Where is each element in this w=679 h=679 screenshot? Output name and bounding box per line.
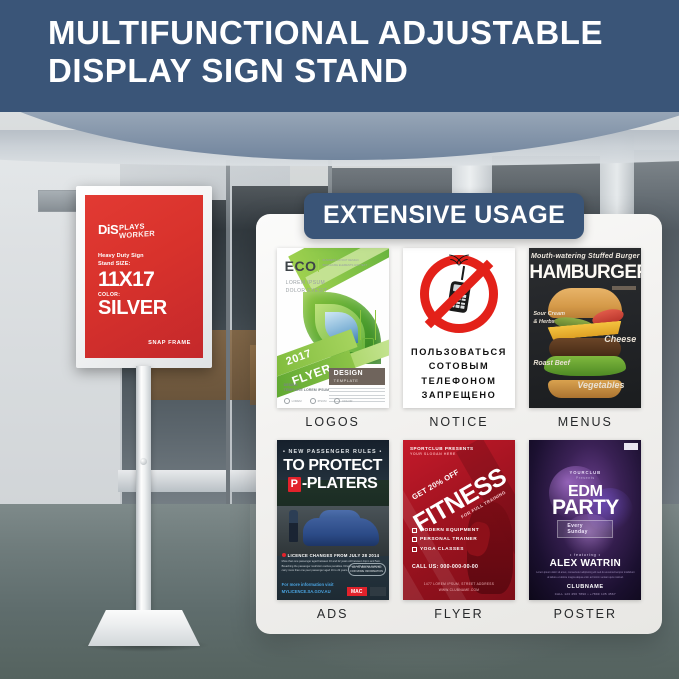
poster-thumbnail-ads: • NEW PASSENGER RULES • TO PROTECT P -PL… bbox=[277, 440, 389, 600]
size-value: 11X17 bbox=[98, 269, 154, 290]
flyer-feature-label: YOGA CLASSES bbox=[420, 547, 464, 552]
flyer-feature-item: PERSONAL TRAINER bbox=[412, 537, 479, 542]
brand-logo-worker: WORKER bbox=[119, 230, 155, 240]
burger-label-vegetables: Vegetables bbox=[577, 380, 624, 390]
ads-kicker: • NEW PASSENGER RULES • bbox=[277, 449, 389, 455]
ads-pedestrian bbox=[289, 510, 298, 542]
burger-label-cheese: Cheese bbox=[604, 334, 636, 344]
poster-thumbnail-flyer: SPORTCLUB PRESENTS YOUR SLOGAN HERE GET … bbox=[403, 440, 515, 600]
usage-cell-poster: YOURCLUB Presents EDM PARTY Every Sunday… bbox=[527, 440, 644, 632]
frame-type-label: SNAP FRAME bbox=[148, 340, 191, 346]
snap-frame: DiS PLAYS WORKER Heavy Duty Sign Stand S… bbox=[76, 186, 212, 368]
burger-label-cream: Sour Cream & Herbs bbox=[533, 310, 565, 327]
spec-label: Heavy Duty Sign Stand SIZE: bbox=[98, 252, 144, 268]
eco-template-box: DESIGN TEMPLATE bbox=[329, 368, 385, 385]
usage-caption-flyer: FLYER bbox=[434, 607, 483, 621]
eco-template-title: DESIGN bbox=[334, 370, 363, 377]
flyer-feature-label: MODERN EQUIPMENT bbox=[420, 528, 479, 533]
poster-thumbnail-notice: ПОЛЬЗОВАТЬСЯ СОТОВЫМ ТЕЛЕФОНОМ ЗАПРЕЩЕНО bbox=[403, 248, 515, 408]
ads-headline-2: -PLATERS bbox=[302, 475, 378, 493]
poster-thumbnail-edm: YOURCLUB Presents EDM PARTY Every Sunday… bbox=[529, 440, 641, 600]
eco-footer: DESIGN TEMPLATE LOREM IPSUM bbox=[284, 383, 329, 395]
usage-cell-logos: ECO BUSINESS LAYOUT DESIGN BROCHURE ELEM… bbox=[274, 248, 391, 440]
usage-caption-logos: LOGOS bbox=[305, 415, 359, 429]
ads-info-pill: GO TO MAC.SA.GOV.AU FOR MORE INFORMATION bbox=[348, 563, 386, 576]
ads-headline-2-row: P -PLATERS bbox=[277, 475, 389, 493]
ads-link-label: For more information visit MYLICENCE.SA.… bbox=[282, 582, 334, 595]
usage-panel: ECO BUSINESS LAYOUT DESIGN BROCHURE ELEM… bbox=[256, 214, 662, 634]
edm-schedule-badge: Every Sunday bbox=[557, 520, 613, 538]
edm-description: Lorem ipsum dolor sit amet, consectetur … bbox=[535, 571, 635, 580]
brand-logo: DiS PLAYS WORKER bbox=[98, 223, 155, 239]
flyer-feature-item: YOGA CLASSES bbox=[412, 547, 479, 552]
stand-pole bbox=[136, 366, 151, 616]
ads-car-body bbox=[303, 518, 379, 546]
eco-title: ECO bbox=[285, 258, 317, 274]
edm-club-label: YOURCLUB bbox=[529, 470, 641, 475]
eco-template-sub: TEMPLATE bbox=[334, 378, 359, 383]
eco-divider bbox=[318, 259, 319, 272]
usage-caption-poster: POSTER bbox=[554, 607, 617, 621]
stand-base bbox=[88, 610, 200, 646]
edm-presents: Presents bbox=[529, 476, 641, 480]
brand-logo-stack: PLAYS WORKER bbox=[119, 222, 155, 240]
usage-cell-flyer: SPORTCLUB PRESENTS YOUR SLOGAN HERE GET … bbox=[400, 440, 517, 632]
eco-contact-icons: LOREMIPSUMDOLOR bbox=[284, 398, 353, 404]
burger-label-beef: Roast Beef bbox=[533, 360, 570, 367]
usage-caption-notice: NOTICE bbox=[429, 415, 488, 429]
usage-cell-notice: ПОЛЬЗОВАТЬСЯ СОТОВЫМ ТЕЛЕФОНОМ ЗАПРЕЩЕНО… bbox=[400, 248, 517, 440]
product-marketing-image: MULTIFUNCTIONAL ADJUSTABLE DISPLAY SIGN … bbox=[0, 0, 679, 679]
eco-icon-1: LOREM bbox=[284, 398, 302, 404]
swing-rope-right bbox=[375, 310, 376, 340]
usage-cell-menus: Mouth-watering Stuffed Burger HAMBURGER … bbox=[527, 248, 644, 440]
page-title: MULTIFUNCTIONAL ADJUSTABLE DISPLAY SIGN … bbox=[48, 14, 648, 91]
brand-logo-dis: DiS bbox=[98, 223, 118, 236]
burger-title: HAMBURGER bbox=[529, 262, 641, 284]
swing-rope-left bbox=[360, 310, 361, 340]
extensive-usage-badge: EXTENSIVE USAGE bbox=[304, 193, 584, 239]
edm-club-name: CLUBNAME bbox=[529, 584, 641, 590]
usage-cell-ads: • NEW PASSENGER RULES • TO PROTECT P -PL… bbox=[274, 440, 391, 632]
edm-artist-name: ALEX WATRIN bbox=[529, 558, 641, 569]
ads-footer-heading: LICENCE CHANGES FROM JULY 28 2014 bbox=[282, 553, 384, 558]
flyer-feature-item: MODERN EQUIPMENT bbox=[412, 528, 479, 533]
check-icon bbox=[412, 537, 417, 542]
edm-corner-mark bbox=[624, 443, 638, 450]
sign-stand-product: DiS PLAYS WORKER Heavy Duty Sign Stand S… bbox=[76, 186, 212, 368]
eco-meta: BUSINESS LAYOUT DESIGN BROCHURE ELEMENTS… bbox=[323, 259, 379, 268]
flyer-feature-list: MODERN EQUIPMENT PERSONAL TRAINER YOGA C… bbox=[412, 528, 479, 557]
poster-thumbnail-eco: ECO BUSINESS LAYOUT DESIGN BROCHURE ELEM… bbox=[277, 248, 389, 408]
ads-brand-logo: MAC bbox=[347, 587, 367, 596]
burger-kicker: Mouth-watering Stuffed Burger bbox=[529, 253, 641, 260]
flyer-feature-label: PERSONAL TRAINER bbox=[420, 537, 477, 542]
usage-grid: ECO BUSINESS LAYOUT DESIGN BROCHURE ELEM… bbox=[274, 248, 644, 632]
height-adjust-screw bbox=[140, 458, 147, 465]
check-icon bbox=[412, 528, 417, 533]
ads-headline-1: TO PROTECT bbox=[277, 457, 389, 475]
product-poster: DiS PLAYS WORKER Heavy Duty Sign Stand S… bbox=[85, 195, 203, 358]
header-banner: MULTIFUNCTIONAL ADJUSTABLE DISPLAY SIGN … bbox=[0, 0, 679, 112]
ads-gov-logo bbox=[370, 587, 386, 596]
usage-caption-menus: MENUS bbox=[558, 415, 613, 429]
flyer-presents: SPORTCLUB PRESENTS bbox=[410, 446, 474, 451]
flyer-address: 1477 LOREM IPSUM, STREET ADDRESS WWW.CLU… bbox=[403, 582, 515, 593]
flyer-phone: CALL US: 000-000-00-00 bbox=[412, 564, 478, 570]
flyer-slogan: YOUR SLOGAN HERE bbox=[410, 452, 456, 456]
p-plate-badge: P bbox=[288, 477, 301, 492]
edm-featuring-label: • featuring • bbox=[529, 552, 641, 557]
color-value: SILVER bbox=[98, 298, 167, 318]
usage-caption-ads: ADS bbox=[317, 607, 349, 621]
notice-text: ПОЛЬЗОВАТЬСЯ СОТОВЫМ ТЕЛЕФОНОМ ЗАПРЕЩЕНО bbox=[403, 345, 515, 402]
poster-thumbnail-menus: Mouth-watering Stuffed Burger HAMBURGER … bbox=[529, 248, 641, 408]
edm-title-line2: PARTY bbox=[529, 498, 641, 519]
window-mullion bbox=[226, 160, 230, 550]
check-icon bbox=[412, 547, 417, 552]
eco-icon-3: DOLOR bbox=[334, 398, 352, 404]
burger-badge bbox=[612, 286, 636, 290]
edm-footer: CALL 123 456 7890 • +7890 135 4567 bbox=[529, 592, 641, 596]
eco-icon-2: IPSUM bbox=[310, 398, 327, 404]
